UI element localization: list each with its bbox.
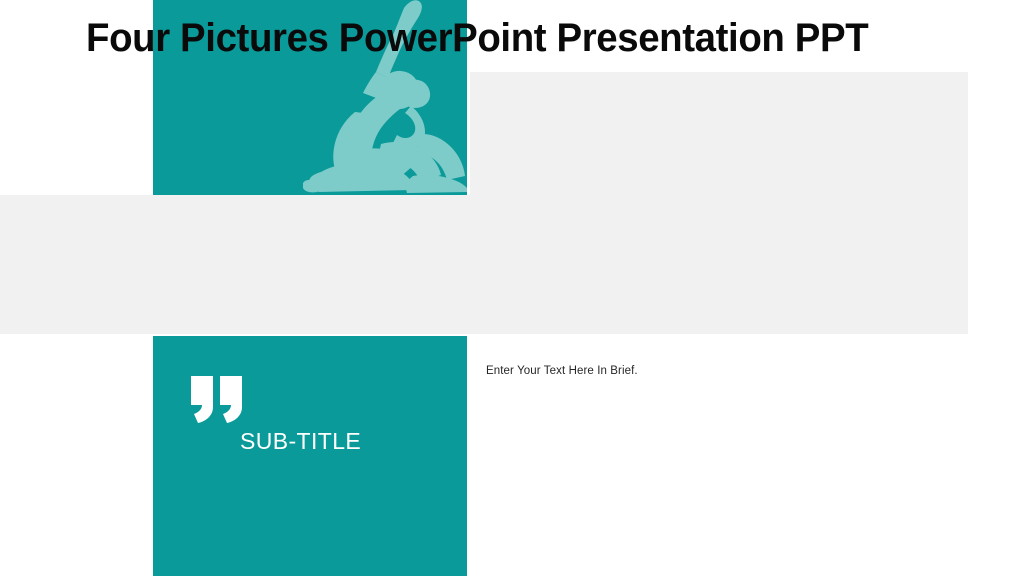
grey-band-wide — [0, 195, 968, 334]
page-title: Four Pictures PowerPoint Presentation PP… — [86, 17, 868, 59]
slide-canvas: SUB-TITLE Four Pictures PowerPoint Prese… — [0, 0, 1024, 576]
subtitle-panel-bottom-left[interactable]: SUB-TITLE — [153, 336, 467, 576]
quote-open-icon — [189, 376, 245, 424]
body-paragraph: Enter Your Text Here In Brief. — [486, 365, 638, 377]
subtitle-label: SUB-TITLE — [240, 428, 361, 455]
grey-band-upper — [470, 72, 968, 196]
